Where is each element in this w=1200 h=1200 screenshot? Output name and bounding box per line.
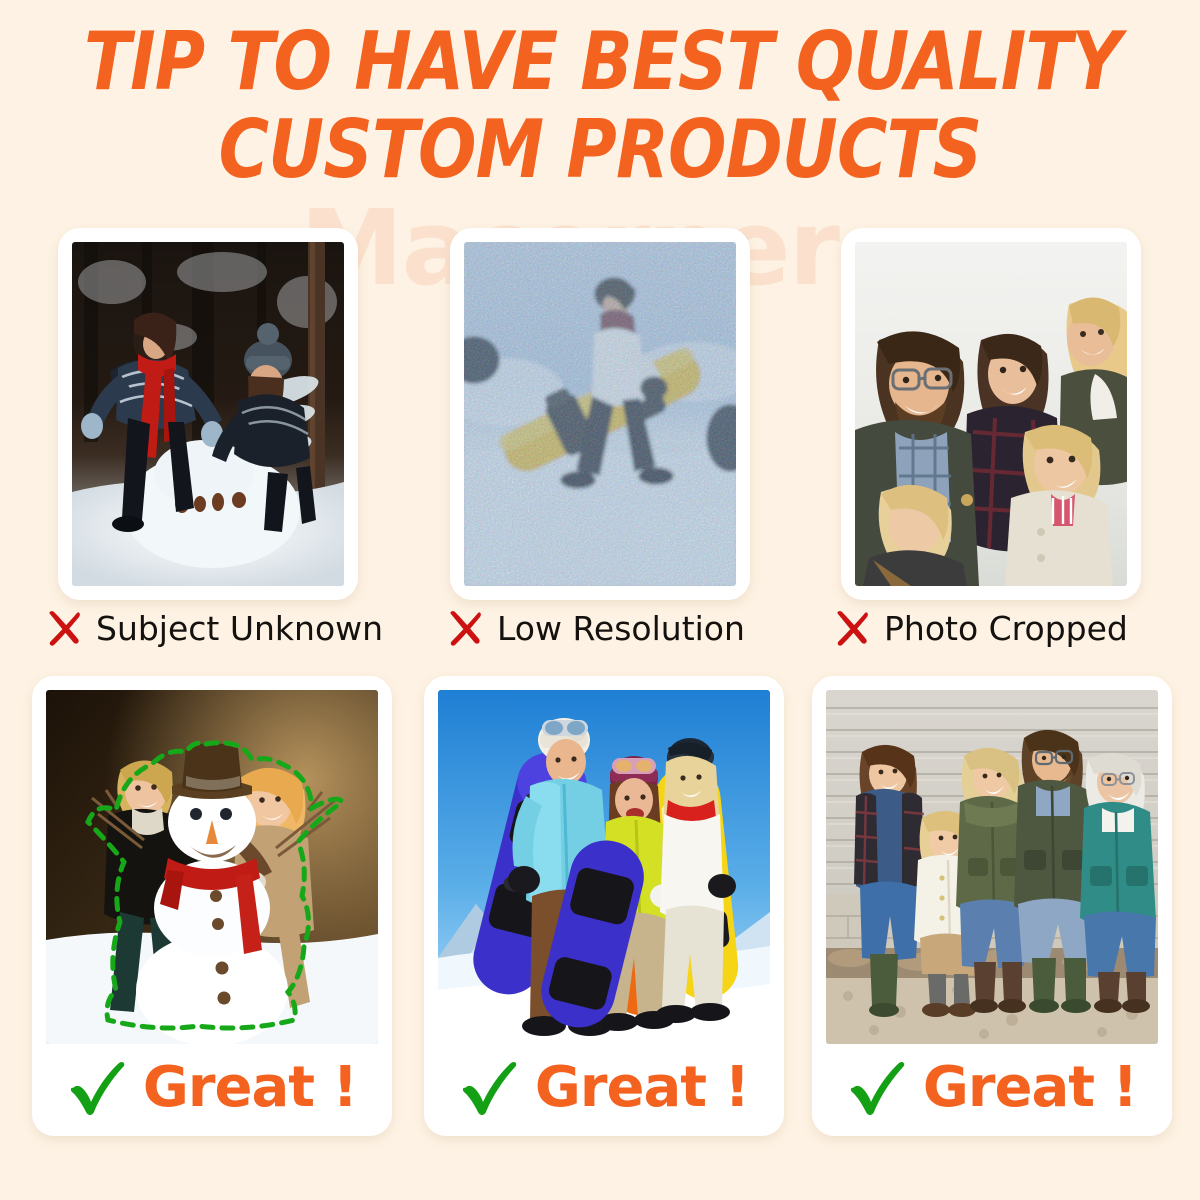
photo-card[interactable]: [58, 228, 358, 600]
photo-card[interactable]: Great !: [424, 676, 784, 1136]
photo-family-barn: [826, 690, 1158, 1044]
page-title-line-1: TIP TO HAVE BEST QUALITY: [84, 18, 1116, 106]
photo-card[interactable]: [841, 228, 1141, 600]
bad-label-photo-cropped: Photo Cropped: [832, 608, 1128, 648]
good-label-snowman: Great !: [32, 1054, 392, 1120]
x-mark-icon: [44, 608, 84, 648]
page-title: TIP TO HAVE BEST QUALITY CUSTOM PRODUCTS: [84, 18, 1116, 194]
bad-label-text: Low Resolution: [497, 609, 745, 648]
x-mark-icon: [832, 608, 872, 648]
good-label-text: Great !: [923, 1055, 1137, 1120]
check-mark-icon: [847, 1056, 909, 1118]
photo-card[interactable]: Great !: [32, 676, 392, 1136]
photo-card[interactable]: [450, 228, 750, 600]
photo-three-snowboarders: [438, 690, 770, 1044]
good-label-snowboarders: Great !: [424, 1054, 784, 1120]
check-mark-icon: [459, 1056, 521, 1118]
photo-snowman-outlined: [46, 690, 378, 1044]
bad-label-subject-unknown: Subject Unknown: [44, 608, 383, 648]
photo-subject-unknown: [72, 242, 344, 586]
good-label-text: Great !: [535, 1055, 749, 1120]
check-mark-icon: [67, 1056, 129, 1118]
photo-card[interactable]: Great !: [812, 676, 1172, 1136]
good-label-family: Great !: [812, 1054, 1172, 1120]
x-mark-icon: [445, 608, 485, 648]
bad-label-text: Photo Cropped: [884, 609, 1128, 648]
bad-label-low-resolution: Low Resolution: [445, 608, 745, 648]
photo-photo-cropped: [855, 242, 1127, 586]
bad-label-text: Subject Unknown: [96, 609, 383, 648]
good-label-text: Great !: [143, 1055, 357, 1120]
page-title-line-2: CUSTOM PRODUCTS: [84, 106, 1116, 194]
photo-low-resolution: [464, 242, 736, 586]
